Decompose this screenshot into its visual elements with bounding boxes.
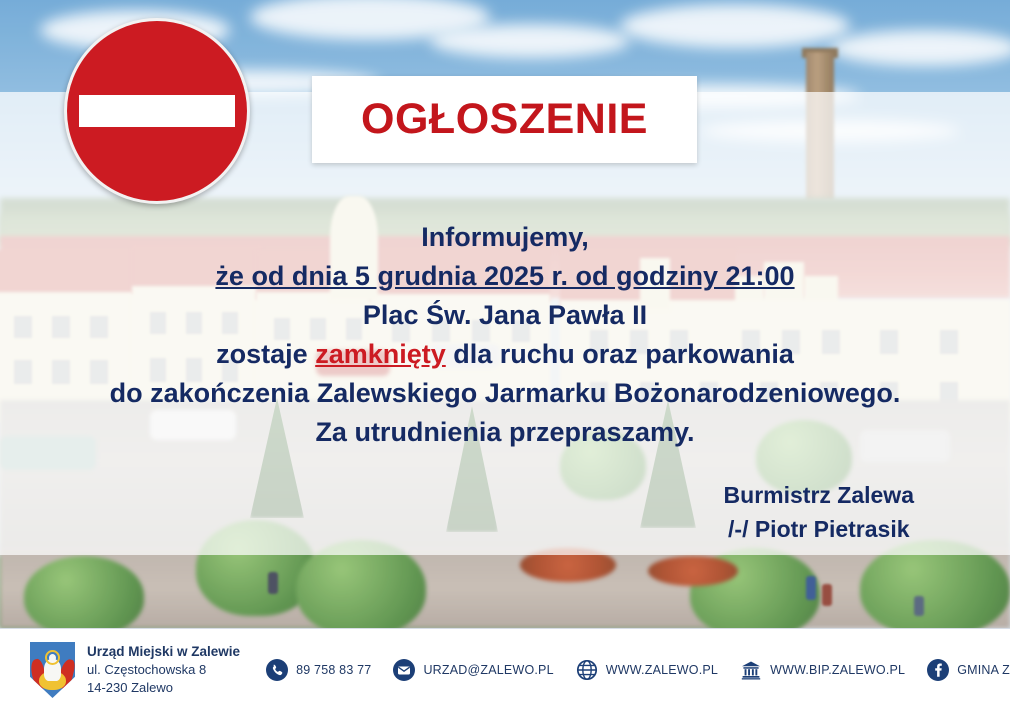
no-entry-bar xyxy=(79,95,235,127)
office-name: Urząd Miejski w Zalewie xyxy=(87,643,240,661)
office-city: 14-230 Zalewo xyxy=(87,679,240,697)
envelope-icon xyxy=(393,659,415,681)
website-url: WWW.ZALEWO.PL xyxy=(606,663,718,677)
bip-url: WWW.BIP.ZALEWO.PL xyxy=(770,663,905,677)
facebook-page: GMINA ZALEWO xyxy=(957,663,1010,677)
contact-bip[interactable]: WWW.BIP.ZALEWO.PL xyxy=(740,659,905,681)
phone-number: 89 758 83 77 xyxy=(296,663,371,677)
body-line-6: Za utrudnienia przepraszamy. xyxy=(0,413,1010,452)
body-line-4-post: dla ruchu oraz parkowania xyxy=(446,339,794,369)
page-title: OGŁOSZENIE xyxy=(361,95,648,144)
body-line-5: do zakończenia Zalewskiego Jarmarku Bożo… xyxy=(0,374,1010,413)
closed-keyword: zamknięty xyxy=(315,339,446,369)
body-line-4-pre: zostaje xyxy=(216,339,315,369)
office-street: ul. Częstochowska 8 xyxy=(87,661,240,679)
crest-shield xyxy=(30,642,75,698)
crest-figure-head xyxy=(49,654,56,662)
facebook-icon xyxy=(927,659,949,681)
signature-name: /-/ Piotr Pietrasik xyxy=(724,512,914,546)
photo-scrim-bottom xyxy=(0,555,1010,628)
title-banner: OGŁOSZENIE xyxy=(312,76,697,163)
contact-phone[interactable]: 89 758 83 77 xyxy=(266,659,371,681)
signature-block: Burmistrz Zalewa /-/ Piotr Pietrasik xyxy=(724,478,914,546)
globe-icon xyxy=(576,659,598,681)
contact-website[interactable]: WWW.ZALEWO.PL xyxy=(576,659,718,681)
office-address: Urząd Miejski w Zalewie ul. Częstochowsk… xyxy=(87,643,240,697)
signature-role: Burmistrz Zalewa xyxy=(724,478,914,512)
announcement-poster: OGŁOSZENIE Informujemy, że od dnia 5 gru… xyxy=(0,0,1010,714)
bank-icon xyxy=(740,659,762,681)
footer: Urząd Miejski w Zalewie ul. Częstochowsk… xyxy=(0,628,1010,714)
contact-facebook[interactable]: GMINA ZALEWO xyxy=(927,659,1010,681)
body-line-2: że od dnia 5 grudnia 2025 r. od godziny … xyxy=(0,257,1010,296)
contact-email[interactable]: URZAD@ZALEWO.PL xyxy=(393,659,553,681)
email-address: URZAD@ZALEWO.PL xyxy=(423,663,553,677)
contact-list: 89 758 83 77 URZAD@ZALEWO.PL WWW.ZALEWO.… xyxy=(266,659,1010,681)
body-line-3: Plac Św. Jana Pawła II xyxy=(0,296,1010,335)
no-entry-sign-icon xyxy=(64,18,250,204)
phone-icon xyxy=(266,659,288,681)
coat-of-arms-icon xyxy=(30,642,75,698)
body-line-1: Informujemy, xyxy=(0,218,1010,257)
body-line-4: zostaje zamknięty dla ruchu oraz parkowa… xyxy=(0,335,1010,374)
announcement-body: Informujemy, że od dnia 5 grudnia 2025 r… xyxy=(0,218,1010,452)
